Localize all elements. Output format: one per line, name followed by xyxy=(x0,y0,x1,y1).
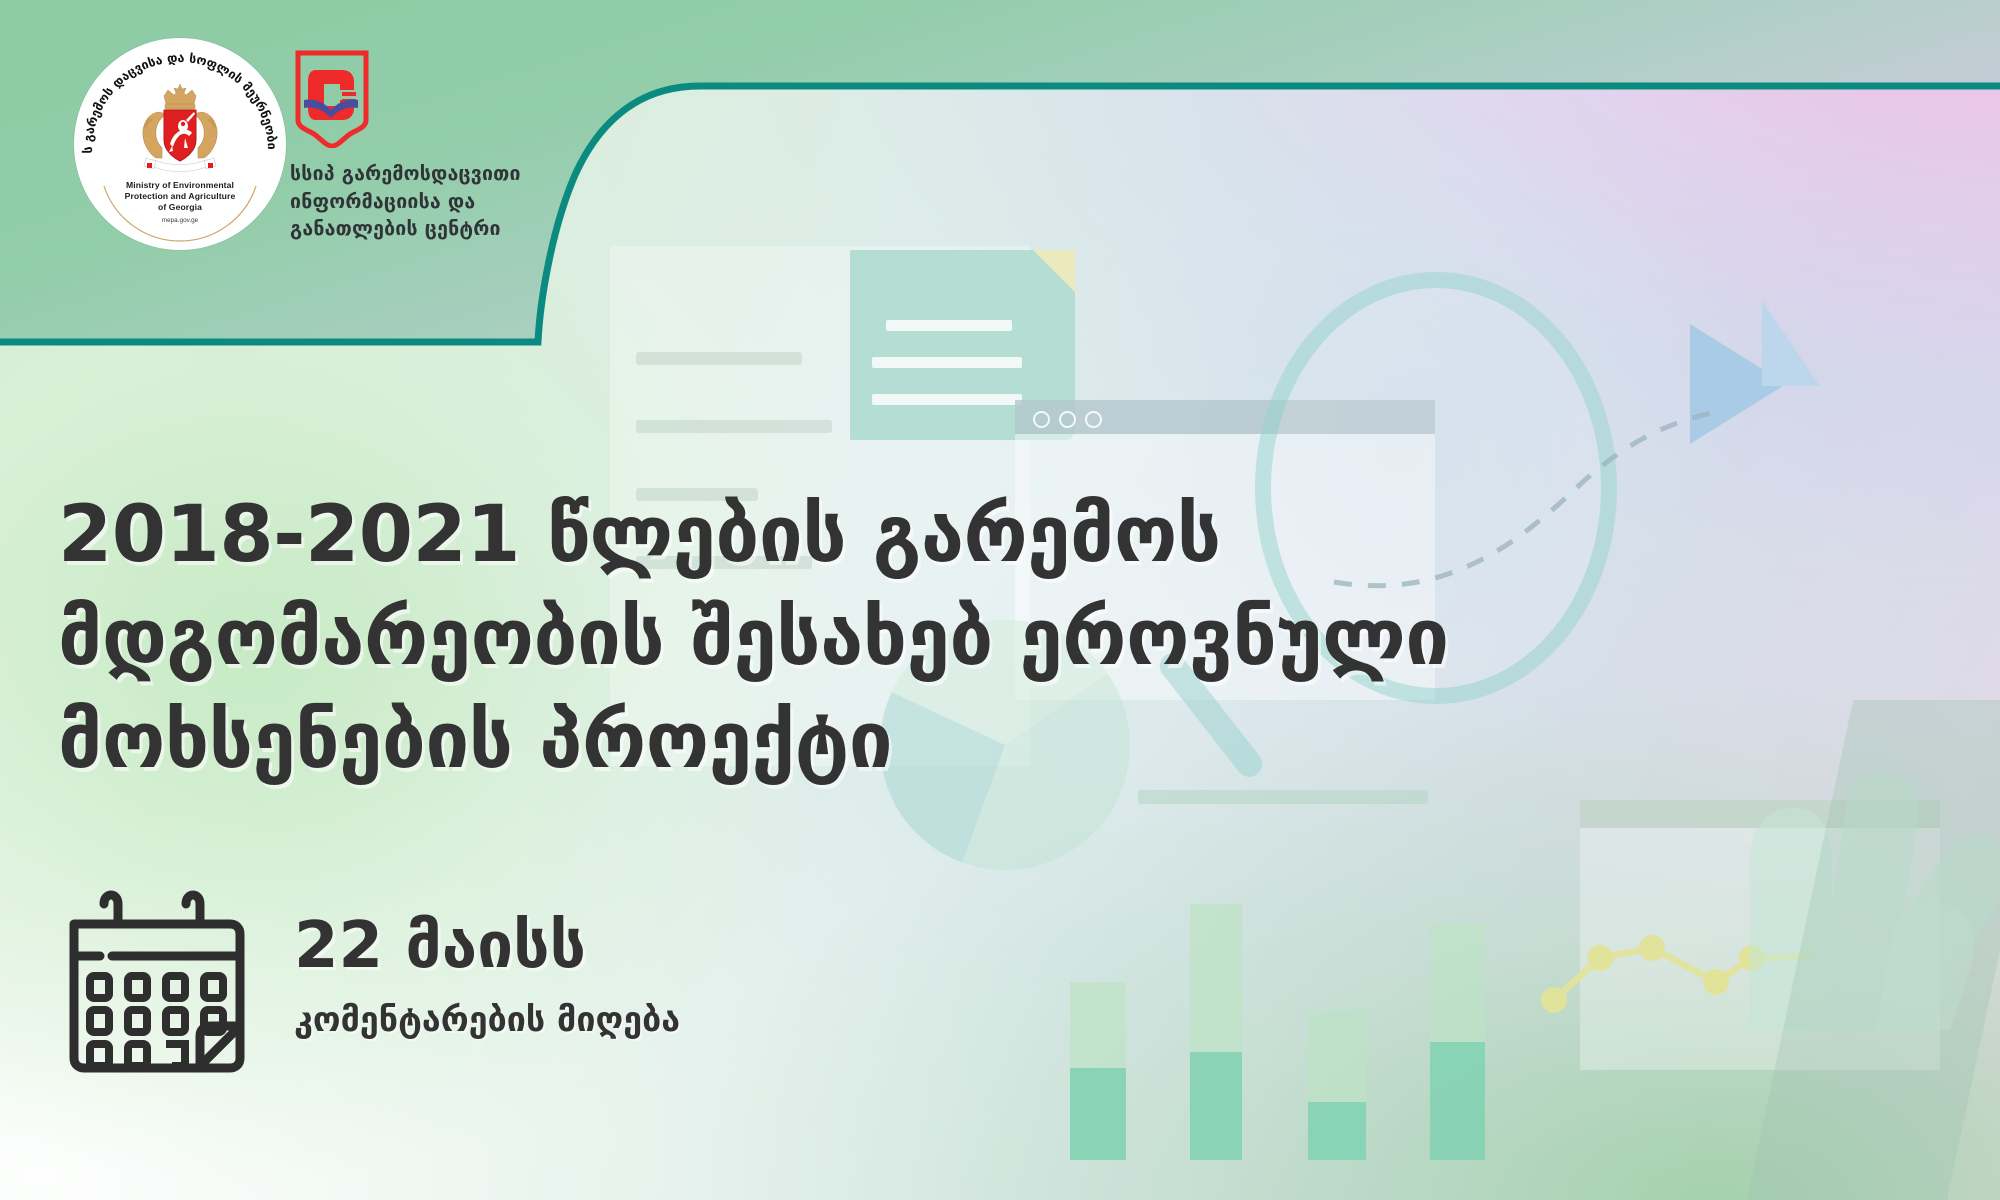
banner-poster: საქართველოს გარემოს დაცვისა და სოფლის მე… xyxy=(0,0,2000,1200)
center-logo-name: სსიპ გარემოსდაცვითი ინფორმაციისა და განა… xyxy=(290,160,550,243)
center-logo-mark xyxy=(294,50,370,146)
page-title-line-3: მოხსენების პროექტი xyxy=(58,690,1818,793)
georgia-coat-of-arms xyxy=(128,82,232,178)
emblem-url: mepa.gov.ge xyxy=(74,217,286,224)
emblem-english-line-1: Ministry of Environmental xyxy=(74,180,286,191)
deadline-block: 22 მაისს კომენტარების მიღება xyxy=(60,880,680,1080)
deadline-text: 22 მაისს კომენტარების მიღება xyxy=(294,880,680,1040)
emblem-english-line-2: Protection and Agriculture xyxy=(74,191,286,202)
calendar-icon xyxy=(60,880,250,1080)
center-logo-line-3: განათლების ცენტრი xyxy=(290,215,550,243)
center-logo-line-2: ინფორმაციისა და xyxy=(290,188,550,216)
ministry-emblem-logo: საქართველოს გარემოს დაცვისა და სოფლის მე… xyxy=(74,38,286,250)
deadline-caption: კომენტარების მიღება xyxy=(294,1000,680,1040)
center-logo-block: სსიპ გარემოსდაცვითი ინფორმაციისა და განა… xyxy=(290,50,550,243)
center-logo-shield-icon xyxy=(294,50,370,148)
page-title: 2018-2021 წლების გარემოს მდგომარეობის შე… xyxy=(58,484,1818,793)
page-title-line-2: მდგომარეობის შესახებ ეროვნული xyxy=(58,587,1818,690)
emblem-english-name: Ministry of Environmental Protection and… xyxy=(74,180,286,213)
center-logo-line-1: სსიპ გარემოსდაცვითი xyxy=(290,160,550,188)
header: საქართველოს გარემოს დაცვისა და სოფლის მე… xyxy=(0,0,2000,360)
emblem-english-line-3: of Georgia xyxy=(74,202,286,213)
page-title-line-1: 2018-2021 წლების გარემოს xyxy=(58,484,1818,587)
deadline-date: 22 მაისს xyxy=(294,914,680,978)
